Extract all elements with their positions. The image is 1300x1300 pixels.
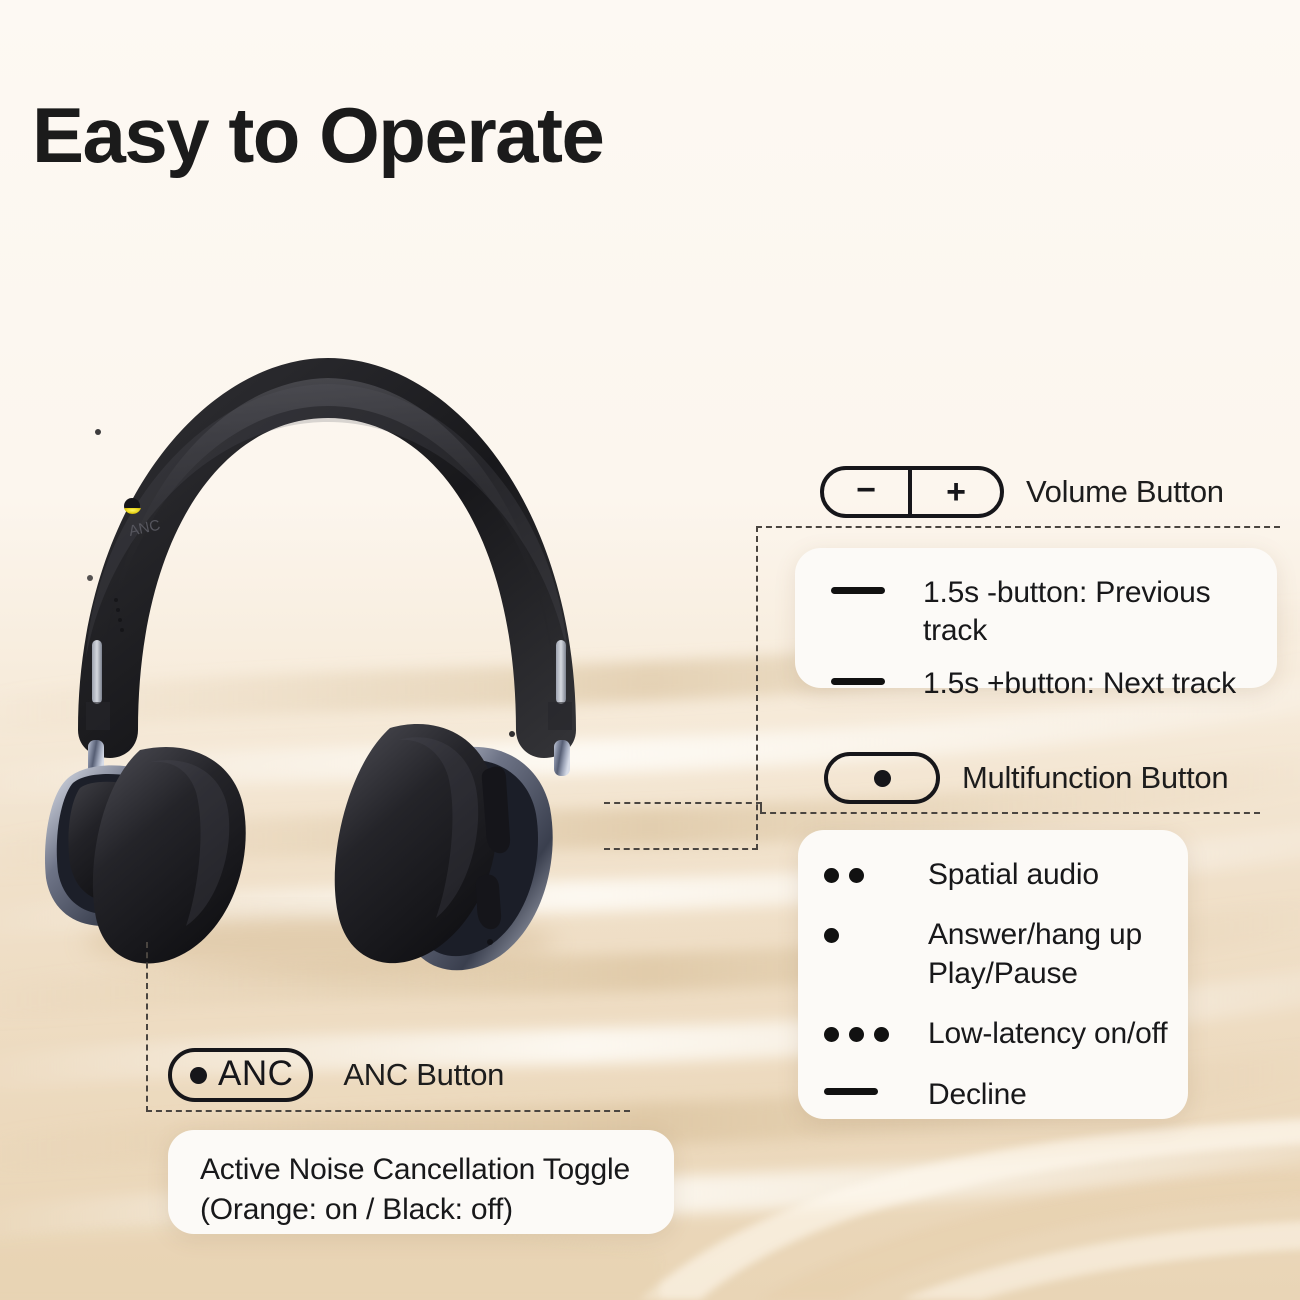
function-line-answer-play: Answer/hang up Play/Pause <box>824 916 1188 993</box>
right-slider <box>556 640 566 704</box>
volume-up-icon[interactable]: + <box>912 470 1000 514</box>
headphones-product-image: ANC <box>20 310 640 990</box>
track-controls-card: 1.5s -button: Previous track 1.5s +butto… <box>795 548 1277 688</box>
function-play-pause-text: Play/Pause <box>928 955 1142 993</box>
function-line-spatial-audio: Spatial audio <box>824 856 1188 894</box>
callout-multifunction[interactable]: Multifunction Button <box>824 752 1228 804</box>
function-line-low-latency: Low-latency on/off <box>824 1015 1188 1053</box>
volume-button-glyph[interactable]: − + <box>820 466 1004 518</box>
right-yoke <box>554 740 570 776</box>
function-line-decline: Decline <box>824 1076 1188 1114</box>
long-press-dash-icon <box>831 574 903 594</box>
long-press-dash-icon <box>824 1076 908 1095</box>
right-earcup <box>335 724 553 970</box>
volume-down-icon[interactable]: − <box>824 470 912 514</box>
multifunction-button-label: Multifunction Button <box>962 760 1228 796</box>
infographic-canvas: Easy to Operate <box>0 0 1300 1300</box>
anc-button-text: ANC <box>218 1056 293 1094</box>
double-press-dots-icon <box>824 856 908 883</box>
track-previous-text: 1.5s -button: Previous track <box>923 574 1277 651</box>
leader-volume-horizontal <box>604 848 758 850</box>
long-press-dash-icon <box>831 665 903 685</box>
anc-description-line2: (Orange: on / Black: off) <box>200 1190 674 1230</box>
anc-button-label: ANC Button <box>343 1057 504 1093</box>
leader-multifunction-horizontal <box>604 802 762 804</box>
leader-anc-horizontal <box>146 1110 630 1112</box>
page-title: Easy to Operate <box>32 96 603 174</box>
callout-anc[interactable]: ANC ANC Button <box>168 1048 504 1102</box>
single-press-dot-icon <box>874 770 891 787</box>
function-answer-hangup-text: Answer/hang up <box>928 916 1142 954</box>
track-line-next: 1.5s +button: Next track <box>831 665 1277 703</box>
triple-press-dots-icon <box>824 1015 908 1042</box>
leader-volume-top <box>756 526 1280 528</box>
volume-button-label: Volume Button <box>1026 474 1224 510</box>
single-press-dot-icon <box>824 916 908 943</box>
single-press-dot-icon <box>190 1067 207 1084</box>
track-line-previous: 1.5s -button: Previous track <box>831 574 1277 651</box>
anc-description-line1: Active Noise Cancellation Toggle <box>200 1150 674 1190</box>
left-slider <box>92 640 102 704</box>
leader-anc-vertical <box>146 942 148 1112</box>
callout-volume[interactable]: − + Volume Button <box>820 466 1224 518</box>
function-low-latency-text: Low-latency on/off <box>928 1015 1167 1053</box>
track-next-text: 1.5s +button: Next track <box>923 665 1236 703</box>
multifunction-actions-card: Spatial audio Answer/hang up Play/Pause … <box>798 830 1188 1119</box>
leader-multifunction-top <box>760 812 1260 814</box>
anc-button-glyph[interactable]: ANC <box>168 1048 313 1102</box>
function-decline-text: Decline <box>928 1076 1027 1114</box>
anc-description-card: Active Noise Cancellation Toggle (Orange… <box>168 1130 674 1234</box>
multifunction-button-glyph[interactable] <box>824 752 940 804</box>
function-spatial-audio-text: Spatial audio <box>928 856 1099 894</box>
